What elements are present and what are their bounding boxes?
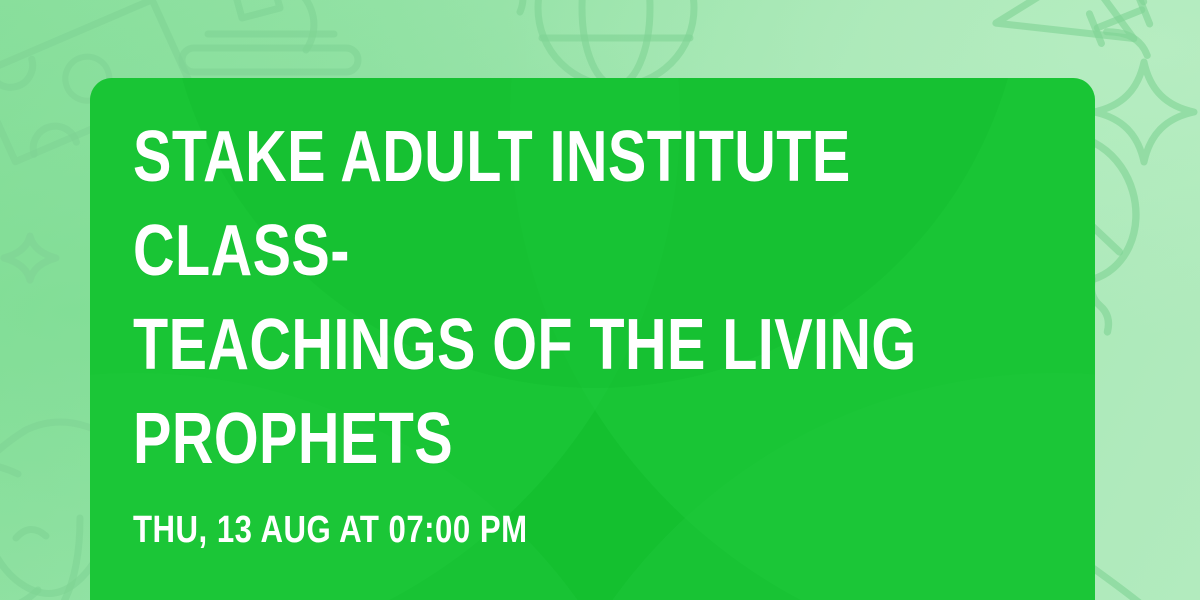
confetti-icon — [520, 0, 523, 12]
microscope-icon — [182, 0, 358, 72]
event-title: Stake Adult Institute Class- Teachings o… — [133, 110, 1077, 486]
event-card: Stake Adult Institute Class- Teachings o… — [90, 78, 1095, 600]
event-date: Thu, 13 Aug at 07:00 PM — [133, 486, 884, 552]
sparkle-icon — [4, 236, 56, 280]
event-poster: Stake Adult Institute Class- Teachings o… — [0, 0, 1200, 600]
sparkle-icon — [1094, 62, 1194, 162]
